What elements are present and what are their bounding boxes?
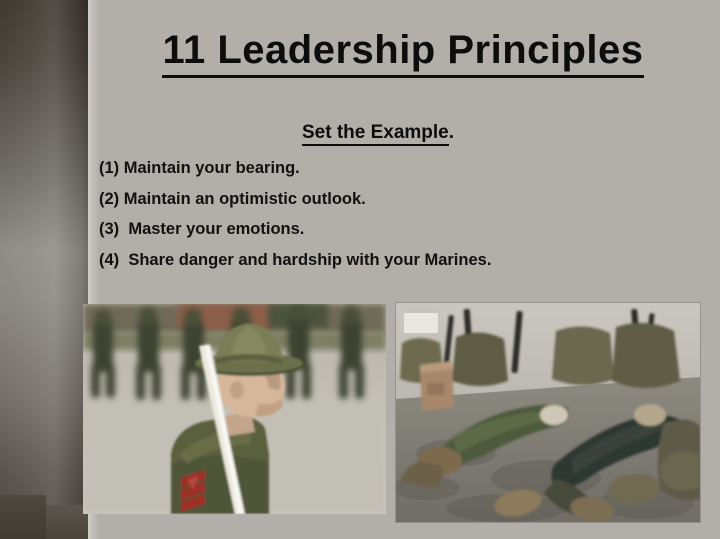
left-band-foot-secondary	[46, 505, 88, 539]
slide-title: 11 Leadership Principles	[98, 28, 708, 73]
slide-title-text: 11 Leadership Principles	[162, 28, 643, 78]
list-item: (4) Share danger and hardship with your …	[99, 252, 699, 269]
presentation-slide: 11 Leadership Principles Set the Example…	[0, 0, 720, 539]
list-item: (2) Maintain an optimistic outlook.	[99, 191, 699, 208]
slide-subtitle-period: .	[449, 122, 454, 143]
slide-subtitle-text: Set the Example	[302, 122, 449, 146]
drill-instructor-photo	[83, 304, 386, 514]
marines-resting-photo	[396, 303, 700, 522]
list-item: (1) Maintain your bearing.	[99, 160, 699, 177]
slide-subtitle: Set the Example.	[98, 122, 658, 144]
left-theme-band-sheen	[0, 0, 88, 539]
list-item: (3) Master your emotions.	[99, 221, 699, 238]
principles-list: (1) Maintain your bearing. (2) Maintain …	[99, 160, 699, 282]
left-band-foot	[0, 495, 46, 539]
